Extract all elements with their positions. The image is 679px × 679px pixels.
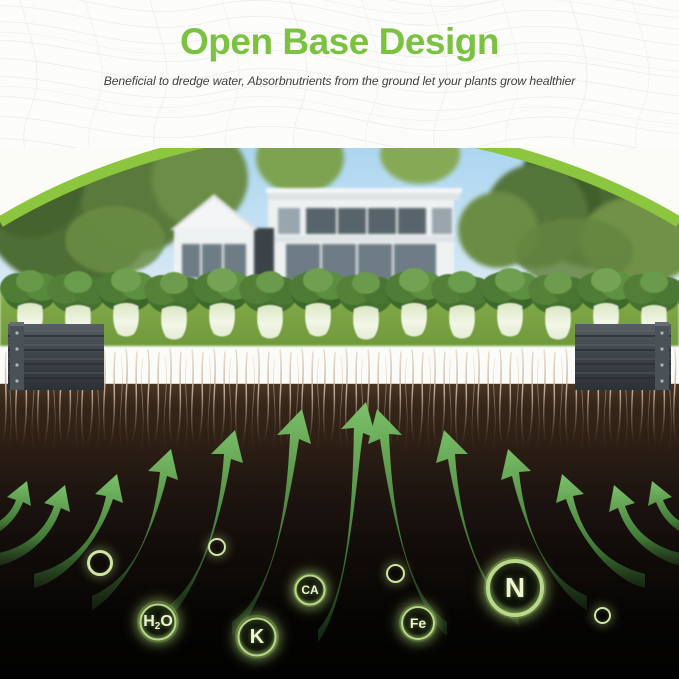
- badge-tail-h2o: O: [160, 613, 172, 630]
- raised-garden-bed-right: [575, 322, 671, 392]
- page-title: Open Base Design: [0, 22, 679, 62]
- nutrient-badge-fe: Fe: [399, 604, 437, 642]
- badge-label-ca: CA: [301, 584, 318, 596]
- badge-sub-h2o: 2: [155, 621, 161, 632]
- nutrient-ring-2: [208, 538, 226, 556]
- nutrient-badge-ca: CA: [293, 573, 327, 607]
- nutrient-badge-h2o: H2O: [137, 601, 179, 643]
- nutrient-ring-3: [386, 564, 405, 583]
- badge-label-k: K: [250, 627, 264, 647]
- nutrient-ring-4: [594, 607, 611, 624]
- raised-garden-bed-left: [8, 322, 104, 392]
- header-band: Open Base Design Beneficial to dredge wa…: [0, 0, 679, 148]
- nutrient-ring-1: [87, 550, 113, 576]
- nutrient-badge-n: N: [484, 557, 546, 619]
- page-subtitle: Beneficial to dredge water, Absorbnutrie…: [0, 74, 679, 88]
- badge-label-h2o: H: [143, 613, 155, 630]
- nutrient-arrows: [0, 384, 679, 679]
- nutrient-badge-k: K: [235, 615, 279, 659]
- product-infographic: H2O K CA Fe N: [0, 0, 679, 679]
- badge-label-fe: Fe: [410, 616, 426, 630]
- badge-label-n: N: [505, 574, 525, 602]
